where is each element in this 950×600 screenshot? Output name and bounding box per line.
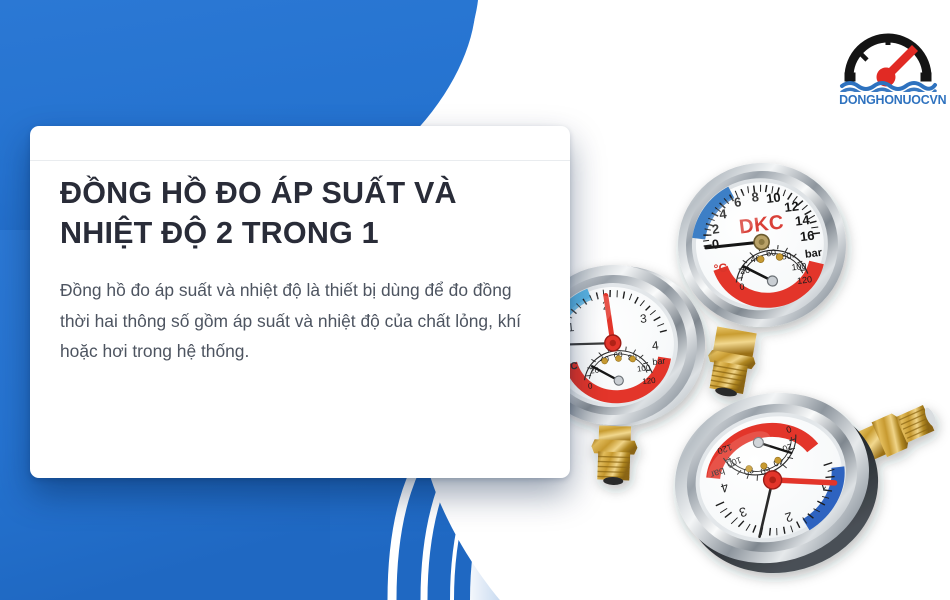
description-text: Đồng hồ đo áp suất và nhiệt độ là thiết … — [60, 275, 544, 366]
needle-icon — [877, 45, 919, 87]
page-title: ĐỒNG HỒ ĐO ÁP SUẤT VÀ NHIỆT ĐỘ 2 TRONG 1 — [60, 174, 544, 253]
card-divider — [30, 160, 570, 161]
logo-wordmark: DONGHONUOCVN — [839, 92, 937, 107]
brand-logo[interactable]: DONGHONUOCVN — [836, 22, 940, 116]
banner-canvas: DONGHONUOCVN — [0, 0, 950, 600]
gauge-wave-icon — [836, 22, 940, 92]
wave-icon — [842, 83, 935, 92]
content-card: ĐỒNG HỒ ĐO ÁP SUẤT VÀ NHIỆT ĐỘ 2 TRONG 1… — [30, 126, 570, 478]
